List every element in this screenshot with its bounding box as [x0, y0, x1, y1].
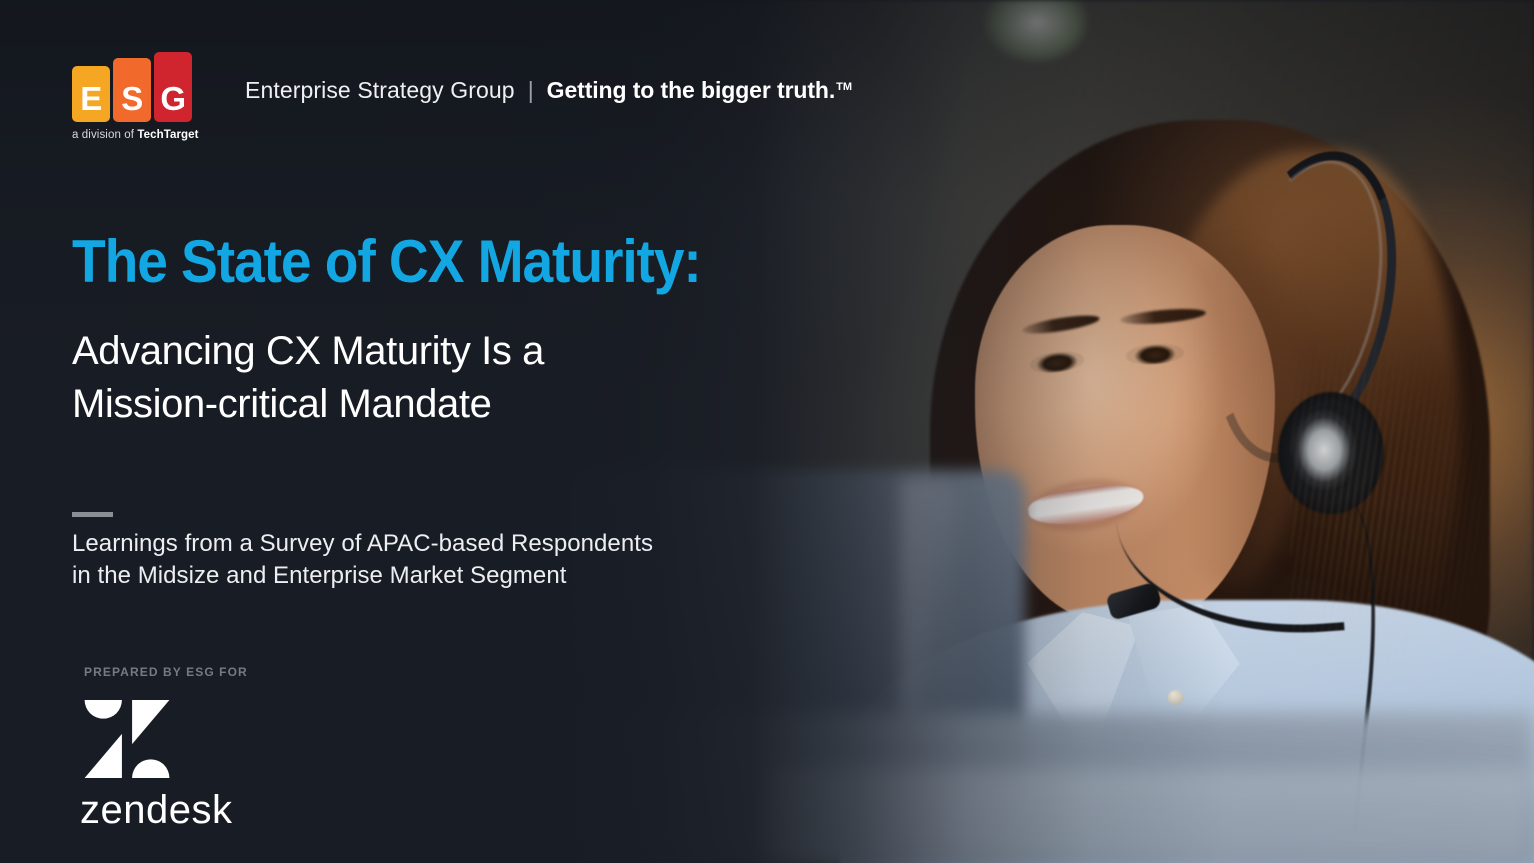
esg-logo-bar-s: S	[113, 58, 151, 122]
esg-logo-letter-g: G	[160, 82, 185, 122]
page-subtitle-line-2: Mission-critical Mandate	[72, 378, 544, 431]
esg-division-parent: TechTarget	[137, 129, 198, 141]
report-cover-page: E S G a division of TechTarget Enterpris…	[0, 0, 1534, 863]
zendesk-mark-icon	[84, 700, 170, 778]
page-subtitle-line-1: Advancing CX Maturity Is a	[72, 325, 544, 378]
page-subtitle: Advancing CX Maturity Is a Mission-criti…	[72, 325, 544, 431]
sponsor-logo-zendesk: zendesk	[84, 700, 232, 830]
page-title: The State of CX Maturity:	[72, 232, 701, 292]
esg-full-name: Enterprise Strategy Group	[245, 77, 515, 104]
divider-rule	[72, 512, 113, 517]
esg-logo-letter-e: E	[80, 82, 102, 122]
esg-logo-bars: E S G	[72, 52, 200, 122]
page-deck-line-1: Learnings from a Survey of APAC-based Re…	[72, 528, 653, 560]
prepared-by-label: PREPARED BY ESG FOR	[84, 665, 248, 679]
esg-logo-bar-g: G	[154, 52, 192, 122]
esg-logo-letter-s: S	[121, 82, 143, 122]
lockup-separator: |	[528, 77, 534, 104]
esg-logo-lockup: E S G a division of TechTarget Enterpris…	[72, 52, 851, 141]
esg-tagline: Getting to the bigger truth.	[547, 77, 836, 104]
esg-logo: E S G a division of TechTarget	[72, 52, 200, 141]
page-deck-line-2: in the Midsize and Enterprise Market Seg…	[72, 560, 653, 592]
esg-logo-bar-e: E	[72, 66, 110, 122]
esg-lockup-text: Enterprise Strategy Group | Getting to t…	[245, 77, 851, 104]
trademark-symbol: TM	[836, 81, 852, 93]
esg-division-line: a division of TechTarget	[72, 129, 200, 141]
zendesk-wordmark: zendesk	[80, 790, 232, 830]
esg-division-prefix: a division of	[72, 129, 137, 141]
cover-content: E S G a division of TechTarget Enterpris…	[0, 0, 1534, 863]
page-deck: Learnings from a Survey of APAC-based Re…	[72, 528, 653, 592]
